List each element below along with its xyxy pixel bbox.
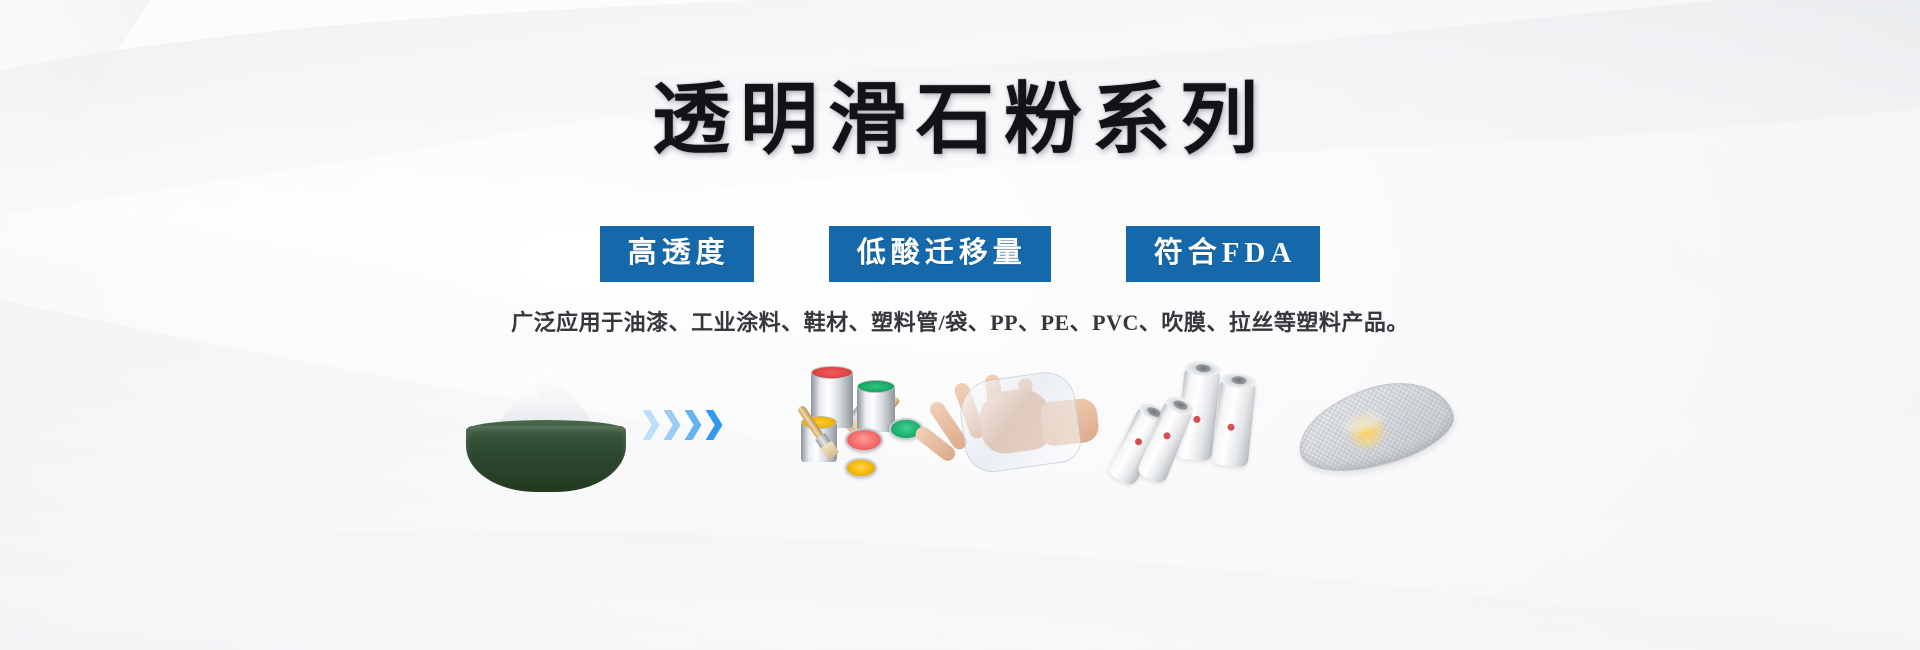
chevron-right-icon	[643, 410, 660, 440]
paint-cans-image	[753, 350, 938, 500]
chevron-right-icon	[685, 410, 702, 440]
paint-lid-pink	[845, 428, 883, 452]
film-roll-mark	[1227, 423, 1235, 431]
feature-badge-list: 高透度 低酸迁移量 符合FDA	[0, 226, 1920, 282]
bowl-dish	[466, 426, 626, 492]
shoe-sole-image	[1288, 350, 1463, 500]
product-banner: 透明滑石粉系列 高透度 低酸迁移量 符合FDA 广泛应用于油漆、工业涂料、鞋材、…	[0, 0, 1920, 650]
shoe-sole-body	[1288, 368, 1461, 487]
paint-lid-yellow	[845, 458, 877, 478]
product-illustration-strip	[0, 350, 1920, 500]
banner-subtitle-container: 广泛应用于油漆、工业涂料、鞋材、塑料管/袋、PP、PE、PVC、吹膜、拉丝等塑料…	[0, 305, 1920, 337]
banner-title-container: 透明滑石粉系列	[0, 78, 1920, 162]
feature-badge-low-acid-migration: 低酸迁移量	[829, 226, 1051, 282]
page-title: 透明滑石粉系列	[652, 78, 1268, 162]
plastic-film-rolls-image	[1108, 350, 1288, 500]
applications-description: 广泛应用于油漆、工业涂料、鞋材、塑料管/袋、PP、PE、PVC、吹膜、拉丝等塑料…	[511, 305, 1409, 337]
film-roll-mark	[1133, 437, 1142, 446]
feature-badge-fda-compliant: 符合FDA	[1126, 226, 1321, 282]
transparent-glove-film	[956, 368, 1084, 475]
process-arrow-group	[633, 350, 753, 500]
film-roll-mark	[1193, 416, 1201, 424]
feature-badge-transparency: 高透度	[600, 226, 754, 282]
talc-powder-bowl-image	[458, 350, 633, 500]
plastic-glove-hand-image	[938, 350, 1108, 500]
chevron-right-icon	[664, 410, 681, 440]
chevron-right-icon	[706, 410, 723, 440]
film-roll-mark	[1162, 431, 1171, 440]
